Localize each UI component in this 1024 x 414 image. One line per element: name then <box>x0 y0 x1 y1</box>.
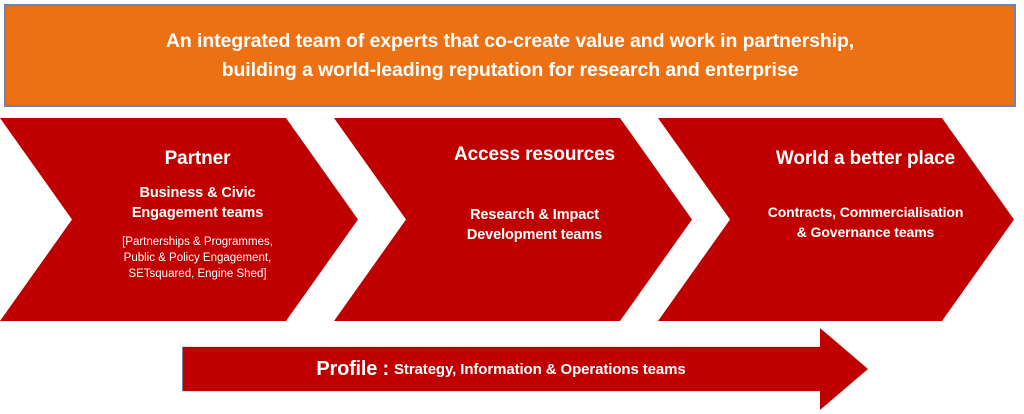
chevron-title-world-a-better-place: World a better place <box>776 146 955 171</box>
profile-arrow-label: Profile : Strategy, Information & Operat… <box>182 328 820 410</box>
chevron-subtitle-partner: Business & Civic Engagement teams <box>95 183 300 224</box>
process-chevron-band: Partner Business & Civic Engagement team… <box>0 118 1024 321</box>
chevron-title-access-resources: Access resources <box>454 142 615 167</box>
diagram-canvas: An integrated team of experts that co-cr… <box>0 0 1024 414</box>
vision-statement-text: An integrated team of experts that co-cr… <box>110 27 910 84</box>
chevron-title-partner: Partner <box>165 146 231 171</box>
vision-statement-banner: An integrated team of experts that co-cr… <box>4 4 1016 107</box>
chevron-subtitle-world-a-better-place: Contracts, Commercialisation & Governanc… <box>763 203 968 242</box>
vision-statement-line-1: An integrated team of experts that co-cr… <box>110 27 910 55</box>
chevron-step-access-resources: Access resources Research & Impact Devel… <box>432 118 637 321</box>
chevron-subtitle-access-resources: Research & Impact Development teams <box>432 205 637 246</box>
chevron-detail-partner: [Partnerships & Programmes, Public & Pol… <box>108 234 288 283</box>
profile-arrow-label-strong: Profile : <box>316 358 389 381</box>
profile-arrow: Profile : Strategy, Information & Operat… <box>182 328 868 410</box>
profile-arrow-label-rest: Strategy, Information & Operations teams <box>394 361 686 378</box>
chevron-step-partner: Partner Business & Civic Engagement team… <box>95 118 300 321</box>
vision-statement-line-2: building a world-leading reputation for … <box>110 56 910 84</box>
chevron-step-world-a-better-place: World a better place Contracts, Commerci… <box>763 118 968 321</box>
